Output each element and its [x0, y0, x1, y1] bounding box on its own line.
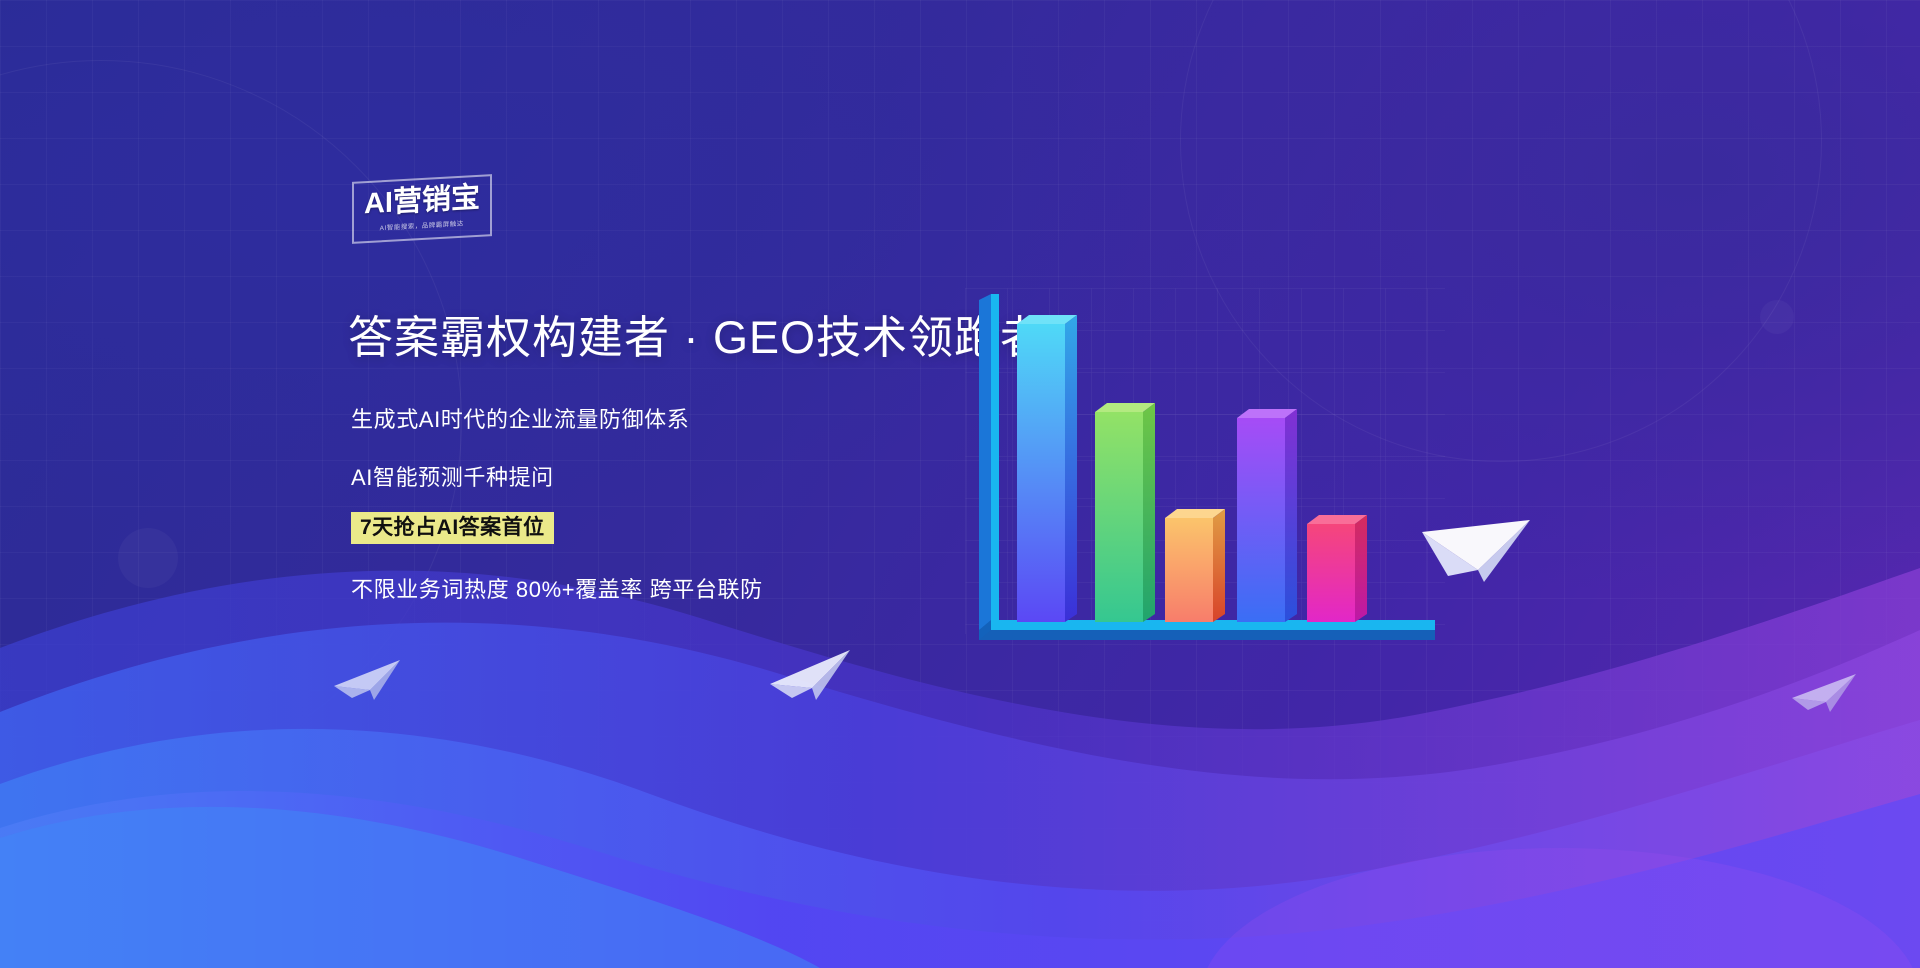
page-title: 答案霸权构建者 · GEO技术领跑者: [348, 313, 1046, 363]
logo-content: AI营销宝 AI智能搜索，品牌霸屏触达: [352, 174, 492, 244]
chart-y-axis: [979, 294, 999, 630]
subtitle-line-4: 不限业务词热度 80%+覆盖率 跨平台联防: [351, 572, 763, 604]
paper-plane-icon: [332, 658, 404, 706]
chart-bar-3: [1165, 509, 1225, 622]
logo-name: AI营销宝: [364, 184, 480, 219]
paper-plane-icon: [768, 648, 854, 708]
chart-bar-4: [1237, 409, 1297, 622]
chart-bar-1: [1017, 315, 1077, 622]
paper-plane-icon: [1418, 518, 1534, 598]
chart-base: [979, 620, 1435, 640]
subtitle-line-1: 生成式AI时代的企业流量防御体系: [351, 402, 689, 434]
subtitle-line-2: AI智能预测千种提问: [351, 460, 554, 492]
chart-bar-2: [1095, 403, 1155, 622]
logo-tagline: AI智能搜索，品牌霸屏触达: [380, 219, 464, 233]
highlight-text: 7天抢占AI答案首位: [351, 512, 554, 544]
highlight-callout: 7天抢占AI答案首位: [351, 512, 554, 544]
bar-chart-3d: [965, 288, 1445, 668]
brand-logo[interactable]: AI营销宝 AI智能搜索，品牌霸屏触达: [352, 178, 492, 240]
paper-plane-icon: [1790, 672, 1860, 720]
chart-bar-5: [1307, 515, 1367, 622]
wave-decoration: [0, 498, 1920, 968]
promo-banner: AI营销宝 AI智能搜索，品牌霸屏触达 答案霸权构建者 · GEO技术领跑者 生…: [0, 0, 1920, 968]
decor-circle-tiny: [1760, 300, 1794, 334]
